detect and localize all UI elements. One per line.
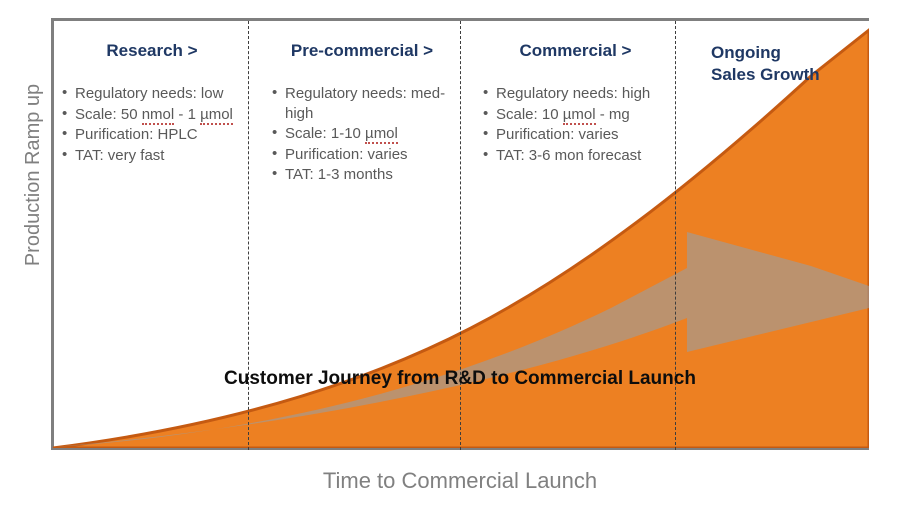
list-item: Scale: 1-10 µmol bbox=[272, 124, 452, 144]
list-item: Regulatory needs: low bbox=[62, 84, 242, 104]
diagram-caption: Customer Journey from R&D to Commercial … bbox=[51, 368, 869, 390]
spellcheck-word: µmol bbox=[563, 106, 596, 125]
spellcheck-word: µmol bbox=[200, 106, 233, 125]
list-item: Purification: HPLC bbox=[62, 125, 242, 145]
stage-bullets-commercial: Regulatory needs: high Scale: 10 µmol - … bbox=[483, 84, 668, 165]
stage-bullets-pre-commercial: Regulatory needs: med-high Scale: 1-10 µ… bbox=[272, 84, 452, 185]
spellcheck-word: µmol bbox=[365, 125, 398, 144]
stage-heading-commercial: Commercial > bbox=[483, 40, 668, 62]
stage-heading-ongoing-sales-growth: Ongoing Sales Growth bbox=[711, 42, 821, 86]
list-item: TAT: 1-3 months bbox=[272, 165, 452, 185]
stage-column-commercial: Commercial > Regulatory needs: high Scal… bbox=[483, 40, 668, 166]
stage-column-research: Research > Regulatory needs: low Scale: … bbox=[62, 40, 242, 166]
list-item: Regulatory needs: high bbox=[483, 84, 668, 104]
y-axis-label: Production Ramp up bbox=[18, 25, 48, 325]
stage-heading-research: Research > bbox=[62, 40, 242, 62]
list-item: Regulatory needs: med-high bbox=[272, 84, 452, 123]
stage-bullets-research: Regulatory needs: low Scale: 50 nmol - 1… bbox=[62, 84, 242, 165]
x-axis-label: Time to Commercial Launch bbox=[51, 468, 869, 494]
list-item: TAT: 3-6 mon forecast bbox=[483, 146, 668, 166]
list-item: Scale: 10 µmol - mg bbox=[483, 105, 668, 125]
list-item: Purification: varies bbox=[483, 125, 668, 145]
stage-column-ongoing-sales-growth: Ongoing Sales Growth bbox=[711, 42, 821, 86]
stage-column-pre-commercial: Pre-commercial > Regulatory needs: med-h… bbox=[272, 40, 452, 186]
stage-heading-pre-commercial: Pre-commercial > bbox=[272, 40, 452, 62]
list-item: Purification: varies bbox=[272, 145, 452, 165]
list-item: TAT: very fast bbox=[62, 146, 242, 166]
spellcheck-word: nmol bbox=[142, 106, 175, 125]
slide-canvas: Production Ramp up Research > Regulatory… bbox=[0, 0, 900, 510]
list-item: Scale: 50 nmol - 1 µmol bbox=[62, 105, 242, 125]
